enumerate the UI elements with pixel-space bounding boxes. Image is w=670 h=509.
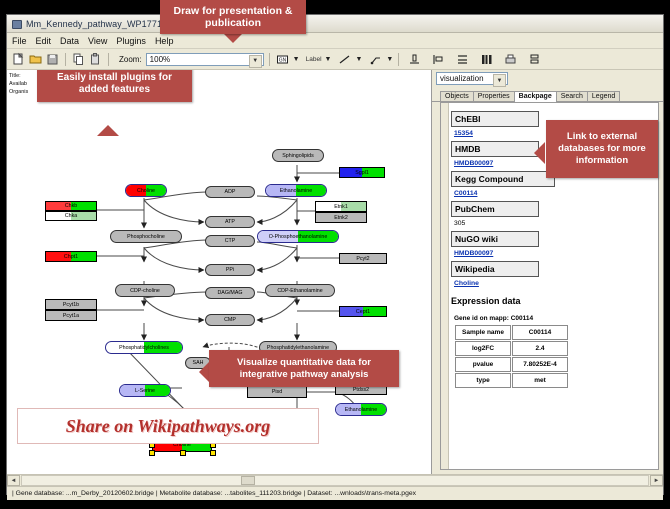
node-l-serine-left[interactable]: L-Serine <box>119 384 171 397</box>
chevron-down-icon[interactable]: ▼ <box>493 74 506 87</box>
node-label: O-Phosphoethanolamine <box>269 234 328 240</box>
node-chpt1[interactable]: Chpt1 <box>45 251 97 262</box>
node-label: Pcyt2 <box>356 256 369 262</box>
tab-backpage[interactable]: Backpage <box>514 91 557 102</box>
datanode-dropdown-icon[interactable]: ▼ <box>293 56 300 63</box>
node-etnk1[interactable]: Etnk1 <box>315 201 367 212</box>
common-height-icon[interactable] <box>527 52 542 67</box>
node-sgpl1[interactable]: Sgpl1 <box>339 167 385 178</box>
tab-legend[interactable]: Legend <box>587 91 620 101</box>
node-label: CTP <box>225 238 236 244</box>
node-label: DAG/MAG <box>217 290 242 296</box>
meta-organism: Organis <box>9 88 28 96</box>
db-link-wikipedia[interactable]: Choline <box>454 280 656 287</box>
pathvisio-window: Mm_Kennedy_pathway_WP1771_45176.gpml Fil… <box>6 14 664 495</box>
node-label: Chkb <box>65 203 77 209</box>
callout-links: Link to external databases for more info… <box>546 120 658 178</box>
resize-handle-sw[interactable] <box>149 450 155 456</box>
node-pcyt1a[interactable]: Pcyt1a <box>45 310 97 321</box>
cell-value: met <box>512 373 568 388</box>
node-label: CMP <box>224 317 236 323</box>
interaction-icon[interactable] <box>368 52 383 67</box>
node-label: Pcyt1a <box>63 313 79 319</box>
node-phosphatidylcholines[interactable]: Phosphatidylcholines <box>105 341 183 354</box>
menu-item-view[interactable]: View <box>88 36 107 46</box>
node-pcyt1b[interactable]: Pcyt1b <box>45 299 97 310</box>
menu-item-plugins[interactable]: Plugins <box>116 36 146 46</box>
node-label: Sphingolipids <box>282 153 314 159</box>
backpage-scrollbar[interactable] <box>441 103 449 469</box>
node-chkb[interactable]: Chkb <box>45 201 97 211</box>
share-text: Share on Wikipathways.org <box>66 416 271 437</box>
callout-visualize: Visualize quantitative data for integrat… <box>209 350 399 387</box>
db-link-kegg[interactable]: C00114 <box>454 190 656 197</box>
toolbar-separator-2 <box>108 53 109 66</box>
node-label: Ethanolamine <box>280 188 312 194</box>
node-label: Ethanolamine <box>345 407 377 413</box>
callout-plugins-arrow <box>97 125 119 136</box>
visualization-select[interactable]: visualization ▼ <box>436 72 508 85</box>
node-cdp-ethanolamine[interactable]: CDP-Ethanolamine <box>265 284 335 297</box>
node-ctp[interactable]: CTP <box>205 235 255 247</box>
node-cmp[interactable]: CMP <box>205 314 255 326</box>
meta-available: Availab <box>9 80 28 88</box>
node-label: Chka <box>65 213 77 219</box>
db-header-hmdb: HMDB <box>451 141 539 157</box>
title-bar: Mm_Kennedy_pathway_WP1771_45176.gpml <box>7 15 663 33</box>
table-row: type met <box>455 373 568 388</box>
tab-properties[interactable]: Properties <box>473 91 515 101</box>
svg-text:GN: GN <box>278 57 286 63</box>
align-left-icon[interactable] <box>431 52 446 67</box>
status-bar: | Gene database: ...m_Derby_20120602.bri… <box>7 486 663 500</box>
menu-item-file[interactable]: File <box>12 36 27 46</box>
node-atp[interactable]: ATP <box>205 216 255 228</box>
zoom-label: Zoom: <box>119 55 142 64</box>
tab-search[interactable]: Search <box>556 91 588 101</box>
open-file-icon[interactable] <box>28 52 43 67</box>
cell-key: type <box>455 373 511 388</box>
node-chka[interactable]: Chka <box>45 211 97 221</box>
db-header-kegg: Kegg Compound <box>451 171 555 187</box>
gene-id-label: Gene id on mapp: C00114 <box>454 315 656 322</box>
label-dropdown-icon[interactable]: ▼ <box>325 56 332 63</box>
print-icon[interactable] <box>503 52 518 67</box>
cell-key: pvalue <box>455 357 511 372</box>
db-header-pubchem: PubChem <box>451 201 539 217</box>
toolbar-separator-4 <box>398 53 399 66</box>
share-banner: Share on Wikipathways.org <box>17 408 319 444</box>
pathway-metadata: Title: Availab Organis <box>9 72 28 96</box>
new-file-icon[interactable] <box>11 52 26 67</box>
table-row: Sample name C00114 <box>455 325 568 340</box>
tab-objects[interactable]: Objects <box>440 91 474 101</box>
meta-title: Title: <box>9 72 28 80</box>
node-label: Cept1 <box>356 309 370 315</box>
node-label: Etnk1 <box>334 204 348 210</box>
tool-bar: Zoom: 100% ▼ GN ▼ Label ▼ ▼ ▼ <box>7 49 663 70</box>
callout-draw: Draw for presentation & publication <box>160 0 306 34</box>
node-label: L-Serine <box>135 388 155 394</box>
node-label: Choline <box>137 188 155 194</box>
side-pane-tabs: Objects Properties Backpage Search Legen… <box>432 87 663 102</box>
node-adp[interactable]: ADP <box>205 186 255 198</box>
pathway-canvas[interactable]: Title: Availab Organis <box>7 70 432 474</box>
zoom-combo[interactable]: 100% ▼ <box>146 53 264 66</box>
node-cdp-choline[interactable]: CDP-choline <box>115 284 175 297</box>
visualization-row: visualization ▼ <box>432 70 663 87</box>
callout-links-arrow <box>534 142 545 164</box>
line-dropdown-icon[interactable]: ▼ <box>355 56 362 63</box>
pathvisio-icon <box>11 18 22 29</box>
node-ethanolamine-right[interactable]: Ethanolamine <box>335 403 387 416</box>
scroll-track[interactable] <box>21 475 649 486</box>
node-etnk2[interactable]: Etnk2 <box>315 212 367 223</box>
db-link-nugo[interactable]: HMDB00097 <box>454 250 656 257</box>
db-header-chebi: ChEBI <box>451 111 539 127</box>
node-choline-top[interactable]: Choline <box>125 184 167 197</box>
node-phosphocholine[interactable]: Phosphocholine <box>110 230 182 243</box>
scroll-left-icon[interactable]: ◄ <box>7 475 20 486</box>
toolbar-separator-3 <box>269 53 270 66</box>
node-o-phosphoethanolamine[interactable]: O-Phosphoethanolamine <box>257 230 339 243</box>
visualization-value: visualization <box>440 74 484 83</box>
align-top-icon[interactable] <box>407 52 422 67</box>
menu-item-edit[interactable]: Edit <box>36 36 52 46</box>
node-label: Ptdss2 <box>353 387 369 393</box>
cell-key: log2FC <box>455 341 511 356</box>
node-ppi[interactable]: PPi <box>205 264 255 276</box>
node-label: Sgpl1 <box>355 170 369 176</box>
menu-bar: File Edit Data View Plugins Help <box>7 33 663 49</box>
cell-value: 7.80252E-4 <box>512 357 568 372</box>
db-header-wikipedia: Wikipedia <box>451 261 539 277</box>
save-file-icon[interactable] <box>45 52 60 67</box>
node-label: Phosphatidylcholines <box>119 345 169 351</box>
datanode-icon[interactable]: GN <box>275 52 290 67</box>
resize-handle-se[interactable] <box>210 450 216 456</box>
node-label: Chpt1 <box>64 254 78 260</box>
node-label: ATP <box>225 219 235 225</box>
cell-value: C00114 <box>512 325 568 340</box>
interaction-dropdown-icon[interactable]: ▼ <box>386 56 393 63</box>
expression-table: Sample name C00114 log2FC 2.4 pvalue 7.8… <box>454 324 569 389</box>
node-pcyt2[interactable]: Pcyt2 <box>339 253 387 264</box>
node-label: PPi <box>226 267 234 273</box>
expression-data-header: Expression data <box>451 296 656 306</box>
node-label: Phosphocholine <box>127 234 165 240</box>
node-ethanolamine-top[interactable]: Ethanolamine <box>265 184 327 197</box>
node-label: Etnk2 <box>334 215 348 221</box>
horizontal-scrollbar[interactable]: ◄ ► <box>7 474 663 486</box>
copy-icon[interactable] <box>71 52 86 67</box>
label-tool[interactable]: Label <box>306 56 322 63</box>
chevron-down-icon[interactable]: ▼ <box>249 55 262 68</box>
node-label: CDP-choline <box>130 288 160 294</box>
resize-handle-s[interactable] <box>180 450 186 456</box>
cell-value: 2.4 <box>512 341 568 356</box>
menu-item-data[interactable]: Data <box>60 36 79 46</box>
table-row: log2FC 2.4 <box>455 341 568 356</box>
node-sphingolipids[interactable]: Sphingolipids <box>272 149 324 162</box>
stack-vertical-icon[interactable] <box>455 52 470 67</box>
menu-item-help[interactable]: Help <box>155 36 174 46</box>
scroll-right-icon[interactable]: ► <box>650 475 663 486</box>
toolbar-separator-1 <box>65 53 66 66</box>
callout-plugins: Easily install plugins for added feature… <box>37 70 192 102</box>
node-dag-mag[interactable]: DAG/MAG <box>205 287 255 299</box>
node-pisd[interactable]: Pisd <box>247 386 307 398</box>
node-cept1[interactable]: Cept1 <box>339 306 387 317</box>
scroll-thumb[interactable] <box>241 476 255 485</box>
db-value-pubchem: 305 <box>454 220 656 227</box>
node-label: ADP <box>225 189 236 195</box>
line-icon[interactable] <box>337 52 352 67</box>
db-header-nugo: NuGO wiki <box>451 231 539 247</box>
common-width-icon[interactable] <box>479 52 494 67</box>
cell-key: Sample name <box>455 325 511 340</box>
table-row: pvalue 7.80252E-4 <box>455 357 568 372</box>
node-label: Pcyt1b <box>63 302 79 308</box>
node-label: CDP-Ethanolamine <box>277 288 322 294</box>
paste-icon[interactable] <box>88 52 103 67</box>
node-label: Pisd <box>272 389 282 395</box>
status-text: | Gene database: ...m_Derby_20120602.bri… <box>12 490 416 497</box>
zoom-value: 100% <box>150 55 170 64</box>
